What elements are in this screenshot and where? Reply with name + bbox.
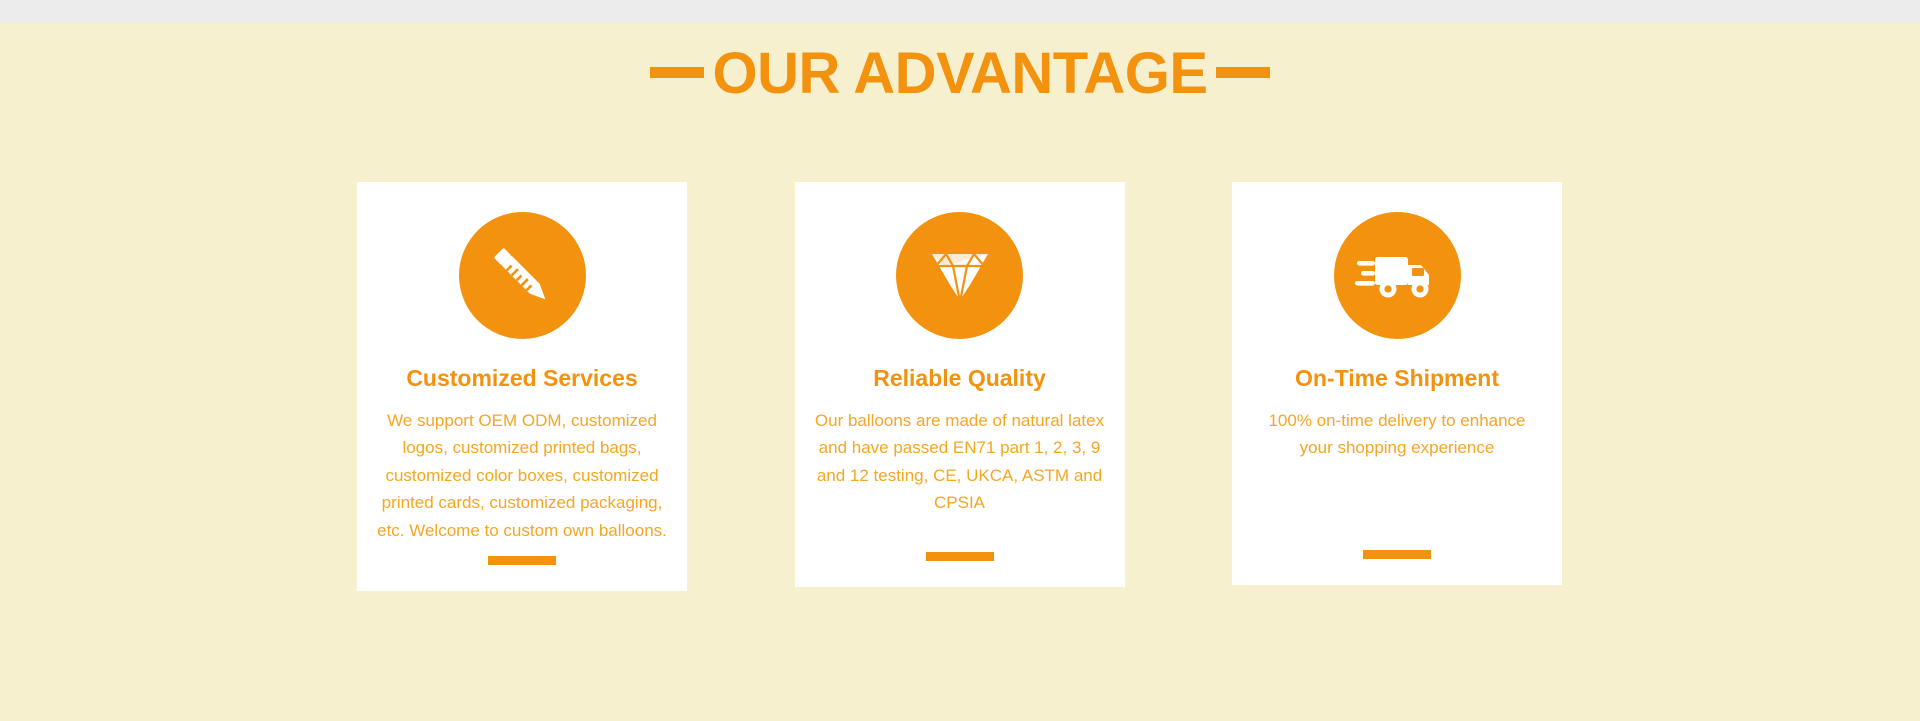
page-title: OUR ADVANTAGE (0, 44, 1920, 105)
advantage-card-customized-services[interactable]: Customized Services We support OEM ODM, … (357, 182, 687, 591)
advantage-card-on-time-shipment[interactable]: On-Time Shipment 100% on-time delivery t… (1232, 182, 1562, 585)
card-title: On-Time Shipment (1295, 365, 1499, 393)
card-description: Our balloons are made of natural latex a… (815, 407, 1105, 517)
card-description: We support OEM ODM, customized logos, cu… (377, 407, 667, 545)
title-dash-left (650, 67, 704, 78)
card-title: Reliable Quality (873, 365, 1046, 393)
advantage-card-list: Customized Services We support OEM ODM, … (357, 182, 1562, 591)
delivery-truck-icon (1334, 212, 1461, 339)
our-advantage-section: OUR ADVANTAGE Customize (0, 0, 1920, 721)
top-strip (0, 0, 1920, 23)
page-title-text: OUR ADVANTAGE (712, 41, 1207, 106)
diamond-icon (896, 212, 1023, 339)
card-accent-bar (1363, 550, 1431, 559)
advantage-card-reliable-quality[interactable]: Reliable Quality Our balloons are made o… (795, 182, 1125, 587)
card-description: 100% on-time delivery to enhance your sh… (1252, 407, 1542, 462)
ruler-pencil-icon (459, 212, 586, 339)
card-title: Customized Services (406, 365, 637, 393)
card-accent-bar (926, 552, 994, 561)
card-accent-bar (488, 556, 556, 565)
title-dash-right (1216, 67, 1270, 78)
